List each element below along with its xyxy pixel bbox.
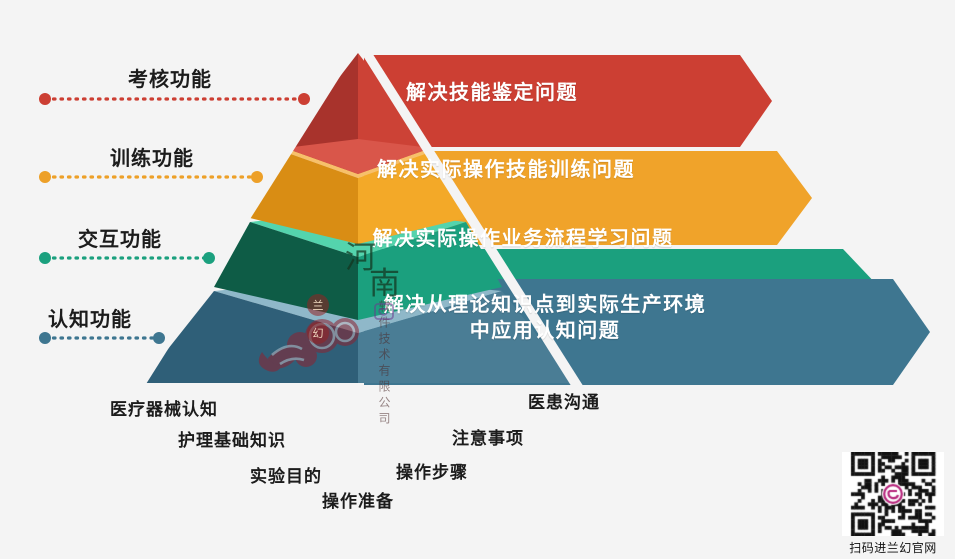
function-label-training: 训练功能 [110, 142, 194, 171]
connector-line-cognition [39, 332, 165, 344]
function-label-interaction: 交互功能 [78, 223, 162, 252]
base-label-operation-steps: 操作步骤 [396, 458, 468, 483]
qr-code-block[interactable]: 扫码进兰幻官网 [842, 452, 944, 556]
base-label-precautions: 注意事项 [452, 424, 524, 449]
banner-text-assessment: 解决技能鉴定问题 [406, 81, 578, 107]
banner-text-cognition: 解决从理论知识点到实际生产环境 中应用认知问题 [384, 293, 707, 344]
banner-text-cognition-line1: 解决从理论知识点到实际生产环境 [384, 293, 707, 319]
banner-text-interaction: 解决实际操作业务流程学习问题 [373, 227, 674, 253]
connector-line-training [39, 171, 263, 183]
base-label-doctor-patient: 医患沟通 [528, 388, 600, 413]
function-label-assessment: 考核功能 [128, 63, 212, 92]
qr-code-image[interactable] [842, 452, 944, 536]
banner-text-training: 解决实际操作技能训练问题 [377, 158, 635, 184]
qr-code-caption: 扫码进兰幻官网 [842, 539, 944, 556]
base-label-medical-device: 医疗器械认知 [110, 395, 218, 420]
connector-line-assessment [39, 93, 310, 105]
connector-line-interaction [39, 252, 215, 264]
function-label-cognition: 认知功能 [48, 303, 132, 332]
banner-text-cognition-line2: 中应用认知问题 [384, 319, 707, 345]
infographic-canvas: 考核功能 训练功能 交互功能 认知功能 解决技能鉴定问题 解决实际操作技能训练问… [0, 0, 955, 559]
base-label-experiment-purpose: 实验目的 [250, 462, 322, 487]
base-label-nursing-basics: 护理基础知识 [178, 426, 286, 451]
base-label-operation-prep: 操作准备 [322, 487, 394, 512]
